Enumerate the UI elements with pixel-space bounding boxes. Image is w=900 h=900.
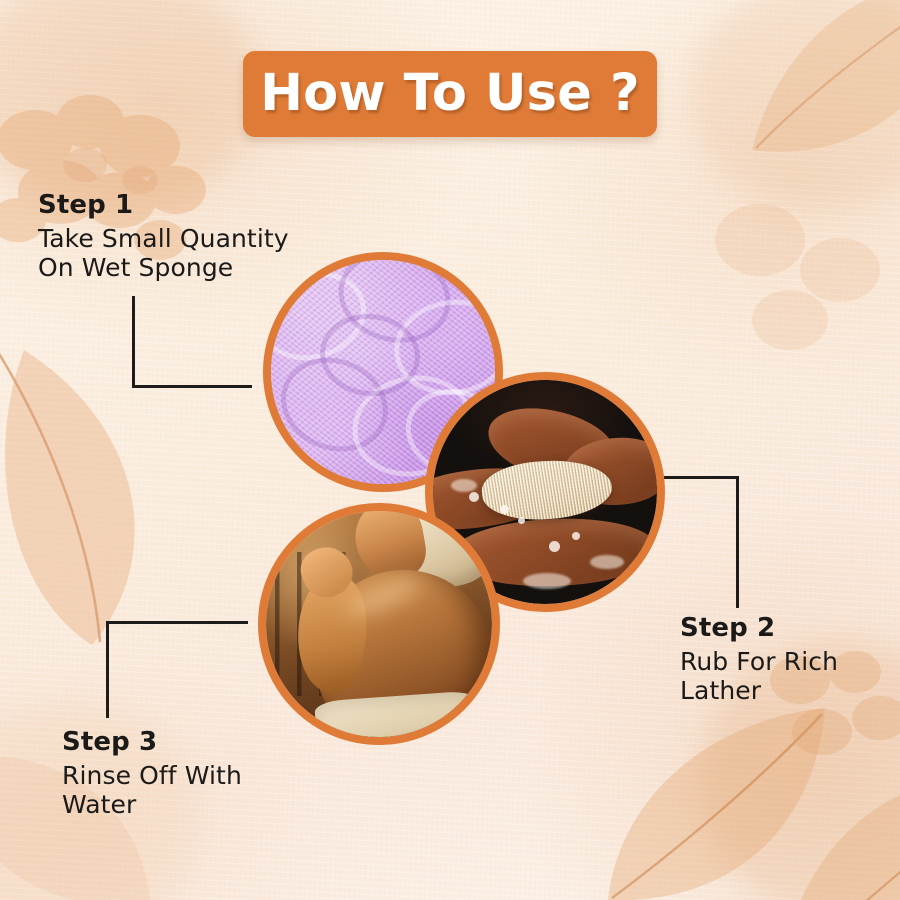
step-2-label: Step 2 (680, 613, 838, 644)
step-3-label: Step 3 (62, 727, 242, 758)
connector-line-step-3-vertical (106, 621, 109, 718)
leaf-icon (742, 0, 900, 180)
water-highlight (590, 555, 624, 569)
floral-cluster-icon (700, 180, 900, 380)
rinse-photo-content (266, 511, 492, 737)
suds-bubble (469, 492, 479, 502)
water-highlight (523, 573, 571, 589)
suds-bubble (518, 517, 525, 524)
connector-line-step-1-vertical (132, 296, 135, 388)
connector-line-step-1-horizontal (132, 385, 252, 388)
leaf-icon (780, 760, 900, 900)
page-title: How To Use ? (260, 68, 640, 119)
step-3-text-block: Step 3 Rinse Off With Water (62, 727, 242, 820)
step-2-description: Rub For Rich Lather (680, 647, 838, 706)
step-3-description: Rinse Off With Water (62, 761, 242, 820)
step-1-label: Step 1 (38, 190, 289, 221)
step-3-image-rinse (258, 503, 500, 745)
leaf-icon (0, 330, 172, 660)
step-1-text-block: Step 1 Take Small Quantity On Wet Sponge (38, 190, 289, 283)
step-1-description: Take Small Quantity On Wet Sponge (38, 224, 289, 283)
connector-line-step-2-horizontal (664, 476, 739, 479)
connector-line-step-3-horizontal (106, 621, 248, 624)
step-2-text-block: Step 2 Rub For Rich Lather (680, 613, 838, 706)
connector-line-step-2-vertical (736, 476, 739, 608)
water-highlight (451, 479, 477, 492)
title-banner: How To Use ? (243, 51, 657, 137)
infographic-canvas: How To Use ? (0, 0, 900, 900)
